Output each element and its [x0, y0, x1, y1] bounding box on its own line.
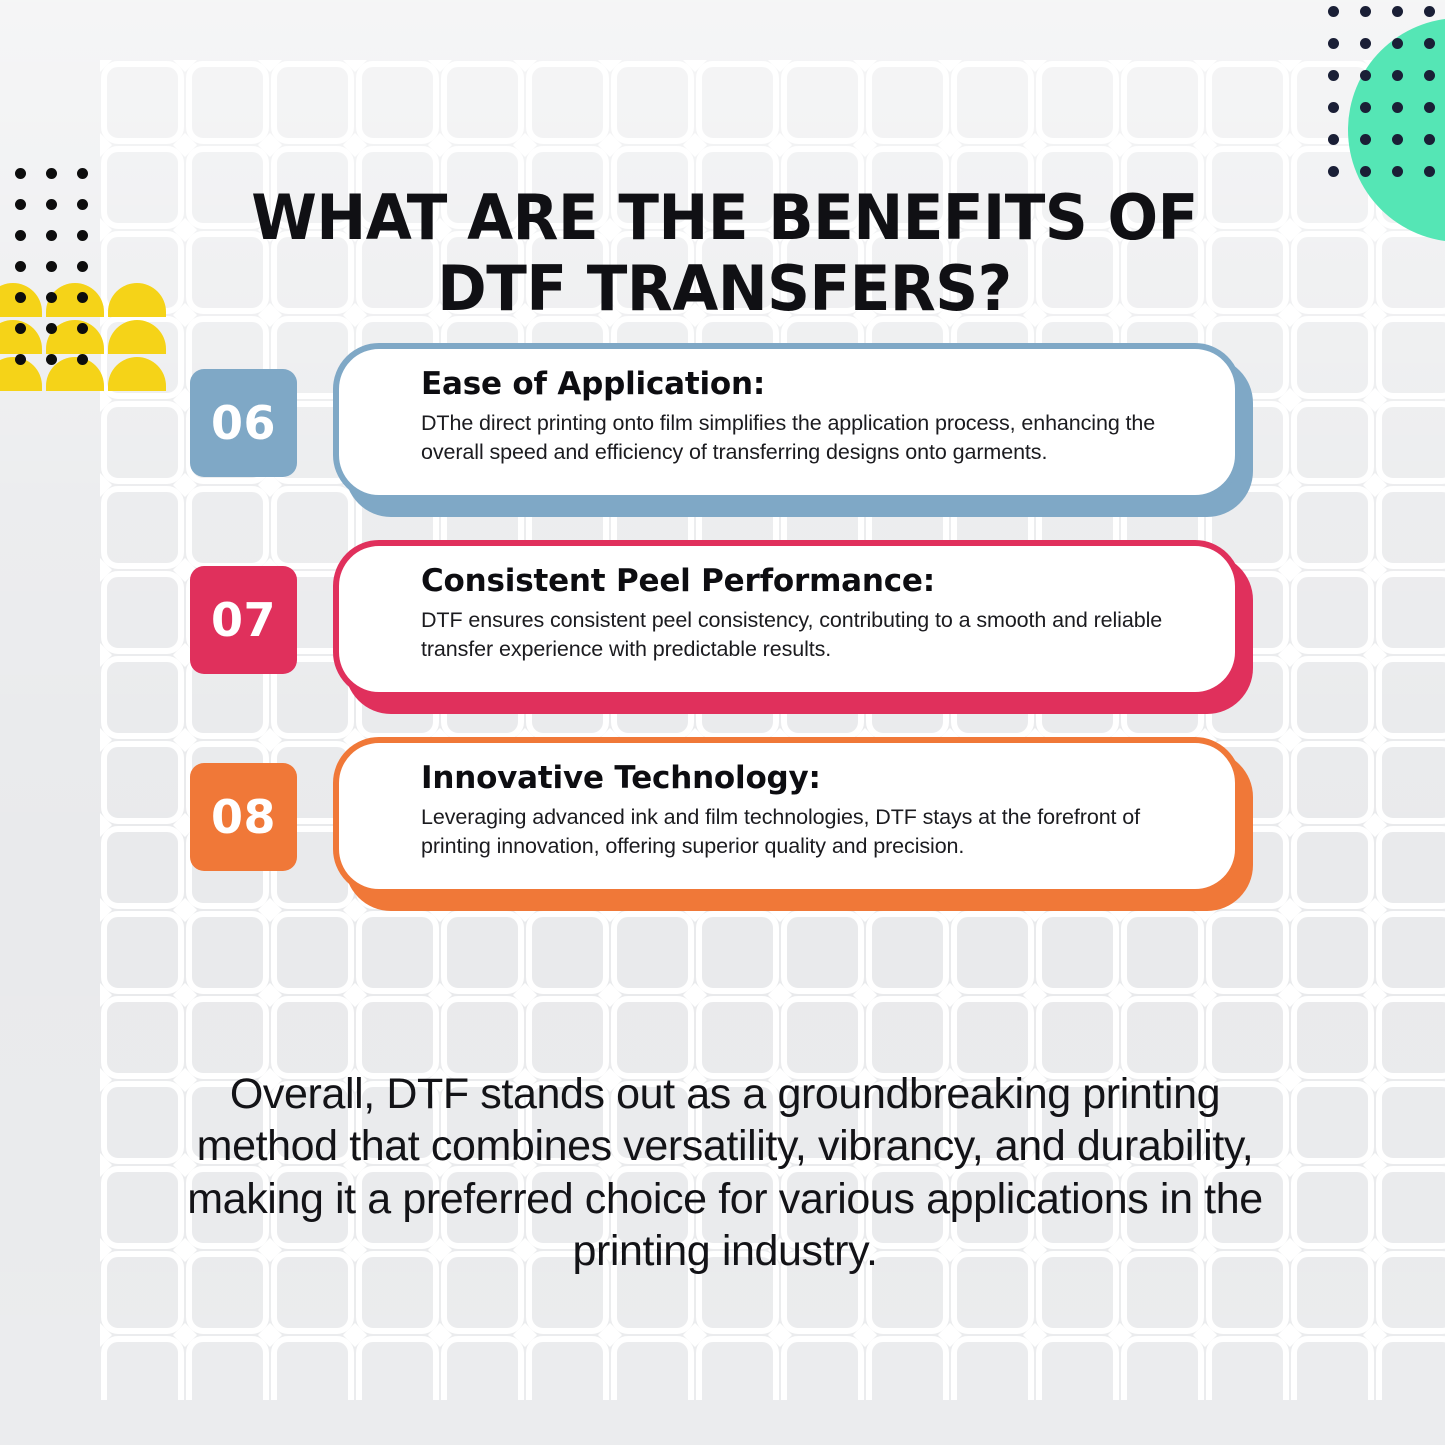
badge-number-07: 07 [190, 566, 297, 674]
benefit-row-06: 06 Ease of Application: DThe direct prin… [0, 343, 1445, 523]
benefit-card-07[interactable]: Consistent Peel Performance: DTF ensures… [333, 540, 1241, 698]
card-title-07: Consistent Peel Performance: [421, 564, 1201, 598]
benefit-card-06[interactable]: Ease of Application: DThe direct printin… [333, 343, 1241, 501]
badge-number-06: 06 [190, 369, 297, 477]
card-title-08: Innovative Technology: [421, 761, 1201, 795]
benefit-row-07: 07 Consistent Peel Performance: DTF ensu… [0, 540, 1445, 720]
card-body-06: DThe direct printing onto film simplifie… [421, 409, 1201, 467]
card-body-07: DTF ensures consistent peel consistency,… [421, 606, 1201, 664]
page-title: WHAT ARE THE BENEFITS OF DTF TRANSFERS? [204, 182, 1246, 325]
card-title-06: Ease of Application: [421, 367, 1201, 401]
footer-summary-paragraph: Overall, DTF stands out as a groundbreak… [180, 1068, 1270, 1278]
badge-number-08: 08 [190, 763, 297, 871]
card-body-08: Leveraging advanced ink and film technol… [421, 803, 1201, 861]
benefit-row-08: 08 Innovative Technology: Leveraging adv… [0, 737, 1445, 917]
benefit-card-08[interactable]: Innovative Technology: Leveraging advanc… [333, 737, 1241, 895]
infographic-canvas: WHAT ARE THE BENEFITS OF DTF TRANSFERS? … [0, 0, 1445, 1445]
